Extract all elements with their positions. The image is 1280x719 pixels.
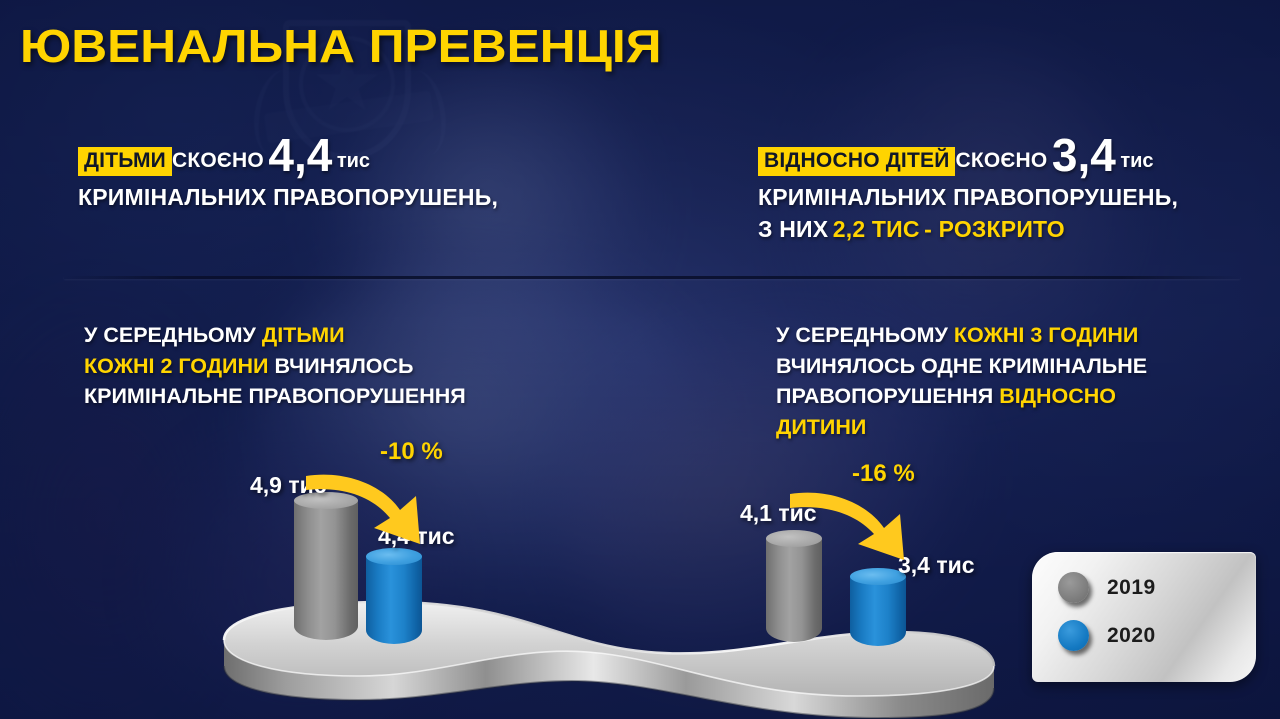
average-text-left: У СЕРЕДНЬОМУ ДІТЬМИ КОЖНІ 2 ГОДИНИ ВЧИНЯ… [84, 320, 466, 412]
legend-item-2019: 2019 [1058, 572, 1256, 603]
stat-block-right: ВІДНОСНО ДІТЕЙСКОЄНО 3,4 тис КРИМІНАЛЬНИ… [758, 138, 1178, 243]
decline-arrow-left [300, 462, 440, 551]
section-divider [64, 276, 1240, 279]
average-left-line1-a: У СЕРЕДНЬОМУ [84, 323, 262, 347]
stat-right-line3-prefix: З НИХ [758, 216, 828, 242]
stat-right-line1: ВІДНОСНО ДІТЕЙСКОЄНО 3,4 тис [758, 138, 1178, 176]
stat-right-value: 3,4 [1052, 129, 1116, 181]
stat-block-left: ДІТЬМИСКОЄНО 4,4 тис КРИМІНАЛЬНИХ ПРАВОП… [78, 138, 498, 210]
stat-left-highlight: ДІТЬМИ [78, 147, 172, 176]
stat-right-highlight: ВІДНОСНО ДІТЕЙ [758, 147, 955, 176]
stat-left-value: 4,4 [268, 129, 332, 181]
average-left-line1: У СЕРЕДНЬОМУ ДІТЬМИ [84, 320, 466, 351]
stat-right-verb: СКОЄНО [955, 149, 1047, 172]
average-right-line4: ДИТИНИ [776, 412, 1147, 443]
average-right-line3-b: ВІДНОСНО [999, 384, 1116, 408]
chart-legend: 2019 2020 [1032, 552, 1256, 682]
stat-left-line1: ДІТЬМИСКОЄНО 4,4 тис [78, 138, 498, 176]
average-left-line2: КОЖНІ 2 ГОДИНИ ВЧИНЯЛОСЬ [84, 351, 466, 382]
average-left-line2-b: ВЧИНЯЛОСЬ [269, 354, 414, 378]
average-right-line1: У СЕРЕДНЬОМУ КОЖНІ 3 ГОДИНИ [776, 320, 1147, 351]
average-left-line2-a: КОЖНІ 2 ГОДИНИ [84, 354, 269, 378]
stat-right-line3-value: 2,2 ТИС [833, 216, 920, 242]
average-left-line3: КРИМІНАЛЬНЕ ПРАВОПОРУШЕННЯ [84, 381, 466, 412]
legend-label-2020: 2020 [1107, 624, 1156, 648]
decline-arrow-right [786, 482, 916, 567]
legend-swatch-2019-icon [1058, 572, 1089, 603]
stat-right-line2: КРИМІНАЛЬНИХ ПРАВОПОРУШЕНЬ, [758, 185, 1178, 211]
legend-item-2020: 2020 [1058, 620, 1256, 651]
legend-label-2019: 2019 [1107, 576, 1156, 600]
stat-left-line2: КРИМІНАЛЬНИХ ПРАВОПОРУШЕНЬ, [78, 185, 498, 211]
average-text-right: У СЕРЕДНЬОМУ КОЖНІ 3 ГОДИНИ ВЧИНЯЛОСЬ ОД… [776, 320, 1147, 442]
average-left-line3-text: КРИМІНАЛЬНЕ ПРАВОПОРУШЕННЯ [84, 384, 466, 408]
bar-2020-right [850, 568, 906, 646]
average-left-line1-b: ДІТЬМИ [262, 323, 345, 347]
average-right-line4-text: ДИТИНИ [776, 415, 866, 439]
stat-right-unit: тис [1120, 150, 1153, 172]
average-right-line2: ВЧИНЯЛОСЬ ОДНЕ КРИМІНАЛЬНЕ [776, 351, 1147, 382]
legend-swatch-2020-icon [1058, 620, 1089, 651]
page-title: ЮВЕНАЛЬНА ПРЕВЕНЦІЯ [20, 22, 661, 70]
stat-left-verb: СКОЄНО [172, 149, 264, 172]
bar-2020-left [366, 548, 422, 644]
average-right-line1-b: КОЖНІ 3 ГОДИНИ [954, 323, 1139, 347]
average-right-line3: ПРАВОПОРУШЕННЯ ВІДНОСНО [776, 381, 1147, 412]
average-right-line2-text: ВЧИНЯЛОСЬ ОДНЕ КРИМІНАЛЬНЕ [776, 354, 1147, 378]
stat-right-line3-suffix: - РОЗКРИТО [924, 216, 1065, 242]
average-right-line1-a: У СЕРЕДНЬОМУ [776, 323, 954, 347]
stat-right-line3: З НИХ 2,2 ТИС - РОЗКРИТО [758, 217, 1178, 243]
stat-left-unit: тис [337, 150, 370, 172]
average-right-line3-a: ПРАВОПОРУШЕННЯ [776, 384, 999, 408]
